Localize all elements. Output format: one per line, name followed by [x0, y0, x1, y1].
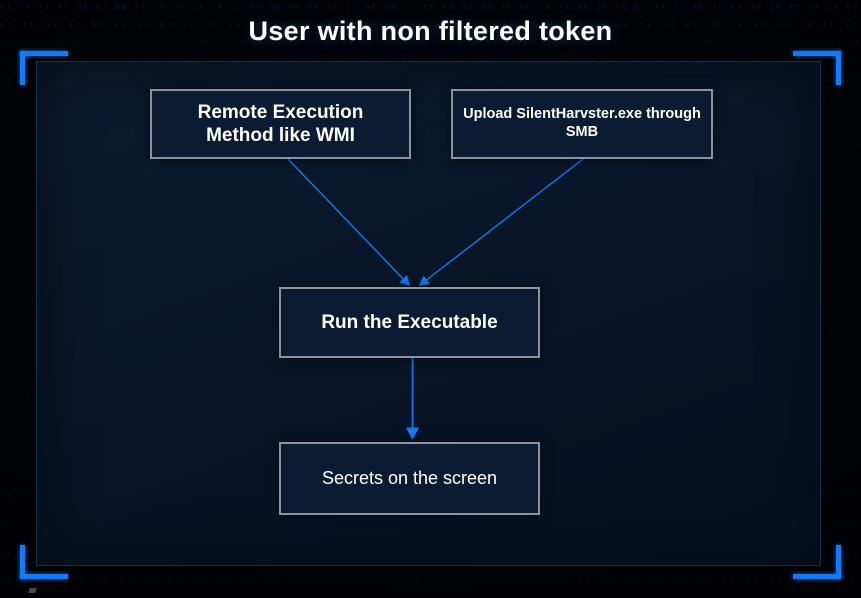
bracket-arm-vertical — [20, 545, 25, 579]
node-label: Upload SilentHarvster.exe through SMB — [453, 106, 711, 141]
bracket-arm-vertical — [836, 545, 841, 579]
node-label: Remote Execution Method like WMI — [152, 101, 409, 147]
corner-bracket-bottom-left — [20, 545, 68, 579]
bracket-arm-horizontal — [20, 51, 68, 56]
mouse-cursor — [28, 588, 37, 593]
page-title: User with non filtered token — [0, 16, 861, 47]
bracket-arm-vertical — [836, 51, 841, 85]
bracket-arm-horizontal — [793, 574, 841, 579]
slide-canvas: 01 7F A3 4C 9D E2 08 B1 56 CF 2A 7E 13 D… — [0, 0, 861, 598]
node-run-executable[interactable]: Run the Executable — [279, 287, 540, 358]
node-remote-execution[interactable]: Remote Execution Method like WMI — [150, 89, 411, 159]
node-secrets-on-screen[interactable]: Secrets on the screen — [279, 442, 540, 515]
bracket-arm-horizontal — [20, 574, 68, 579]
code-row: 01 7F A3 4C 9D E2 08 B1 56 CF 2A 7E 13 D… — [0, 578, 861, 585]
bracket-arm-vertical — [20, 51, 25, 85]
node-upload-payload[interactable]: Upload SilentHarvster.exe through SMB — [451, 89, 713, 159]
corner-bracket-top-right — [793, 51, 841, 85]
code-row: 01 7F A3 4C 9D E2 08 B1 56 CF 2A 7E 13 D… — [0, 4, 861, 11]
node-label: Secrets on the screen — [312, 468, 507, 490]
corner-bracket-top-left — [20, 51, 68, 85]
node-label: Run the Executable — [311, 311, 507, 334]
corner-bracket-bottom-right — [793, 545, 841, 579]
bracket-arm-horizontal — [793, 51, 841, 56]
